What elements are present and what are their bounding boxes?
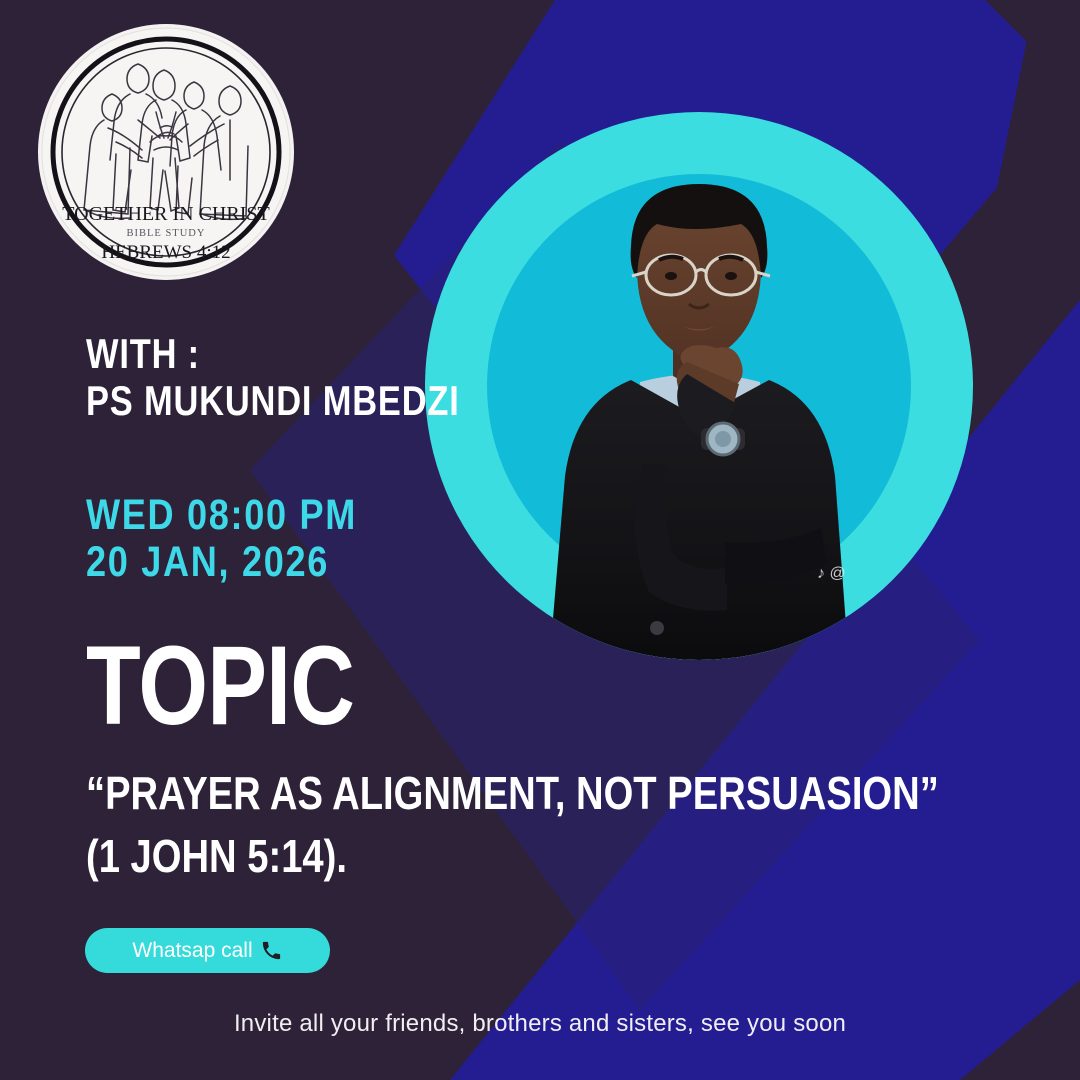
schedule-date: 20 JAN, 2026	[86, 539, 357, 586]
footer-note: Invite all your friends, brothers and si…	[0, 1010, 1080, 1038]
event-flyer: TOGETHER IN CHRIST BIBLE STUDY HEBREWS 4…	[0, 0, 1080, 1080]
speaker-block: WITH : PS MUKUNDI MBEDZI	[86, 330, 542, 424]
svg-text:♪ @: ♪ @	[817, 565, 846, 582]
portrait-jacket-left	[549, 380, 699, 660]
sleeve-logo-icon: ♪ @	[817, 565, 846, 582]
schedule-block: WED 08:00 PM 20 JAN, 2026	[86, 492, 409, 587]
topic-heading: TOPIC	[86, 634, 354, 737]
organization-logo: TOGETHER IN CHRIST BIBLE STUDY HEBREWS 4…	[38, 24, 294, 280]
speaker-name: PS MUKUNDI MBEDZI	[86, 377, 460, 424]
phone-icon	[260, 939, 283, 962]
logo-subtitle: BIBLE STUDY	[127, 228, 206, 239]
logo-title: TOGETHER IN CHRIST	[62, 203, 269, 225]
whatsapp-call-label: Whatsap call	[132, 939, 252, 963]
topic-body: “PRAYER AS ALIGNMENT, NOT PERSUASION” (1…	[86, 762, 1080, 889]
logo-artwork: TOGETHER IN CHRIST BIBLE STUDY HEBREWS 4…	[38, 24, 294, 280]
topic-line-2: (1 JOHN 5:14).	[86, 825, 939, 888]
whatsapp-call-button[interactable]: Whatsap call	[85, 928, 330, 973]
logo-verse: HEBREWS 4:12	[101, 242, 230, 263]
schedule-time: WED 08:00 PM	[86, 492, 357, 539]
jacket-button	[650, 621, 664, 635]
topic-line-1: “PRAYER AS ALIGNMENT, NOT PERSUASION”	[86, 762, 939, 825]
with-label: WITH :	[86, 330, 460, 377]
